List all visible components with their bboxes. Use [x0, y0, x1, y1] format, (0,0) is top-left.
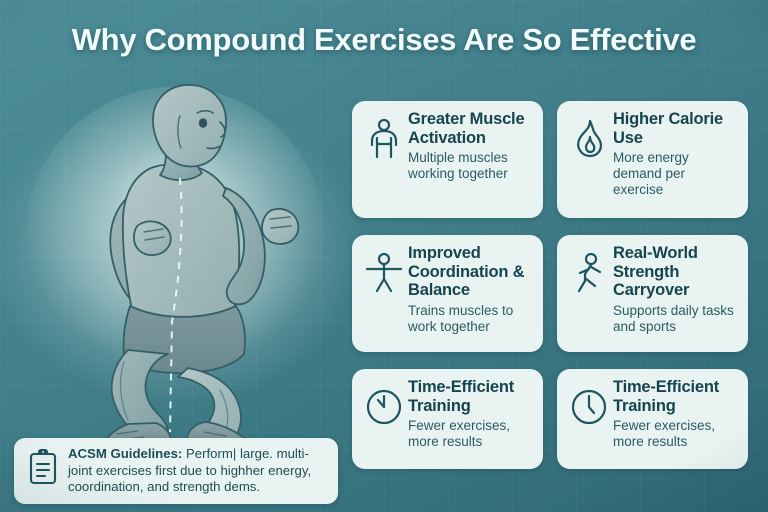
- card-title: Time-Efficient Training: [613, 378, 738, 415]
- card-title: Real-World Strength Carryover: [613, 244, 738, 300]
- infographic-canvas: Why Compound Exercises Are So Effective: [0, 0, 768, 512]
- balance-person-icon: [362, 251, 406, 295]
- benefit-card[interactable]: Higher Calorie Use More energy demand pe…: [557, 101, 748, 218]
- card-subtitle: More energy demand per exercise: [613, 150, 738, 198]
- card-title: Higher Calorie Use: [613, 110, 738, 147]
- flame-icon: [567, 117, 611, 161]
- benefit-card[interactable]: Real-World Strength Carryover Supports d…: [557, 235, 748, 352]
- walking-person-icon: [567, 251, 611, 295]
- clock-icon: [567, 385, 611, 429]
- benefit-card[interactable]: Time-Efficient Training Fewer exercises,…: [352, 369, 543, 469]
- card-subtitle: Trains muscles to work together: [408, 303, 533, 335]
- guidelines-text: ACSM Guidelines: Perform| large. multi-j…: [68, 446, 328, 495]
- clock-icon: [362, 385, 406, 429]
- card-subtitle: Fewer exercises, more results: [613, 418, 738, 450]
- clipboard-icon: [24, 447, 62, 487]
- card-subtitle: Fewer exercises, more results: [408, 418, 533, 450]
- benefit-card[interactable]: Greater Muscle Activation Multiple muscl…: [352, 101, 543, 218]
- person-squat-illustration: [20, 72, 342, 447]
- benefit-card[interactable]: Time-Efficient Training Fewer exercises,…: [557, 369, 748, 469]
- card-subtitle: Supports daily tasks and sports: [613, 303, 738, 335]
- card-title: Time-Efficient Training: [408, 378, 533, 415]
- standing-person-icon: [362, 117, 406, 161]
- benefit-card[interactable]: Improved Coordination & Balance Trains m…: [352, 235, 543, 352]
- card-title: Greater Muscle Activation: [408, 110, 533, 147]
- benefit-card-grid: Greater Muscle Activation Multiple muscl…: [352, 101, 752, 461]
- card-subtitle: Multiple muscles working together: [408, 150, 533, 182]
- page-title: Why Compound Exercises Are So Effective: [0, 22, 768, 58]
- guidelines-banner: ACSM Guidelines: Perform| large. multi-j…: [14, 438, 338, 504]
- guidelines-label: ACSM Guidelines:: [68, 446, 182, 461]
- card-title: Improved Coordination & Balance: [408, 244, 533, 300]
